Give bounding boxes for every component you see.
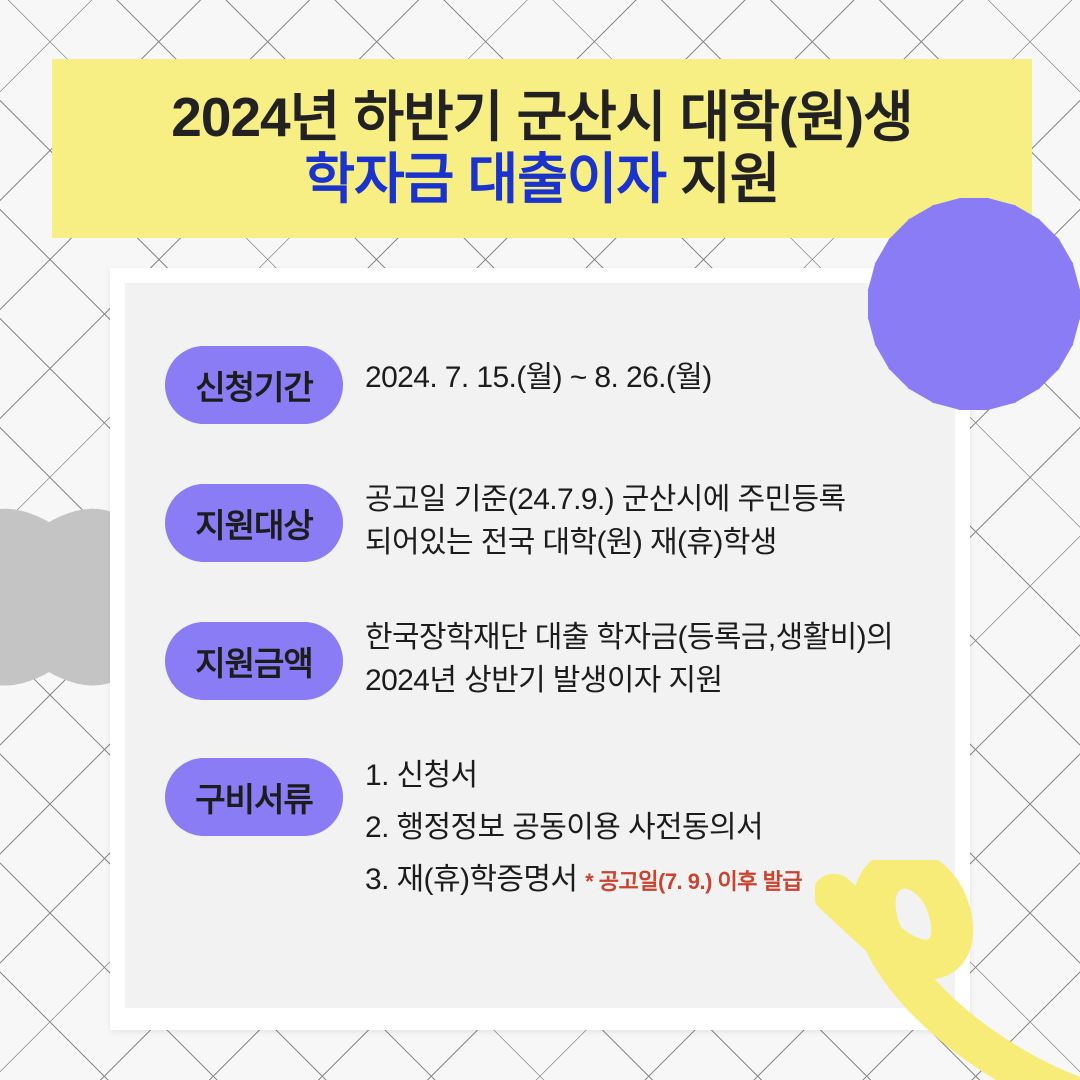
info-row-required-documents-text: 1. 신청서 2. 행정정보 공동이용 사전동의서 3. 재(휴)학증명서 * … [365, 744, 802, 910]
title-line-2-black: 지원 [666, 148, 779, 210]
text-line: 2024년 상반기 발생이자 지원 [365, 660, 893, 703]
title-line-1: 2024년 하반기 군산시 대학(원)생 [171, 87, 912, 149]
document-item-label: 3. 재(휴)학증명서 [365, 863, 577, 896]
document-item: 2. 행정정보 공동이용 사전동의서 [365, 807, 802, 850]
badge-label: 구비서류 [165, 758, 343, 836]
text-line: 공고일 기준(24.7.9.) 군산시에 주민등록 [365, 479, 846, 522]
info-rows: 신청기간 2024. 7. 15.(월) ~ 8. 26.(월) 지원대상 공고… [165, 346, 946, 910]
info-row-application-period-text: 2024. 7. 15.(월) ~ 8. 26.(월) [365, 346, 712, 400]
text-line: 2024. 7. 15.(월) ~ 8. 26.(월) [365, 357, 712, 400]
info-row-eligibility-text: 공고일 기준(24.7.9.) 군산시에 주민등록 되어있는 전국 대학(원) … [365, 468, 846, 564]
badge-label: 지원금액 [165, 622, 343, 700]
poster-canvas: 2024년 하반기 군산시 대학(원)생 학자금 대출이자 지원 [0, 0, 1080, 1080]
title-line-2: 학자금 대출이자 지원 [305, 149, 780, 211]
badge-eligibility: 지원대상 [165, 484, 343, 562]
title-band: 2024년 하반기 군산시 대학(원)생 학자금 대출이자 지원 [52, 59, 1032, 238]
info-row-required-documents: 구비서류 1. 신청서 2. 행정정보 공동이용 사전동의서 3. 재(휴)학증… [165, 744, 946, 910]
info-row-support-amount-text: 한국장학재단 대출 학자금(등록금,생활비)의 2024년 상반기 발생이자 지… [365, 606, 893, 702]
text-line: 되어있는 전국 대학(원) 재(휴)학생 [365, 522, 846, 565]
badge-required-documents: 구비서류 [165, 758, 343, 836]
issuance-note: * 공고일(7. 9.) 이후 발급 [585, 869, 802, 894]
badge-support-amount: 지원금액 [165, 622, 343, 700]
badge-label: 신청기간 [165, 346, 343, 424]
content-card: 신청기간 2024. 7. 15.(월) ~ 8. 26.(월) 지원대상 공고… [110, 268, 970, 1030]
badge-application-period: 신청기간 [165, 346, 343, 424]
info-row-application-period: 신청기간 2024. 7. 15.(월) ~ 8. 26.(월) [165, 346, 946, 424]
title-line-2-blue: 학자금 대출이자 [305, 148, 666, 210]
info-row-eligibility: 지원대상 공고일 기준(24.7.9.) 군산시에 주민등록 되어있는 전국 대… [165, 468, 946, 564]
text-line: 한국장학재단 대출 학자금(등록금,생활비)의 [365, 617, 893, 660]
badge-label: 지원대상 [165, 484, 343, 562]
document-item-with-note: 3. 재(휴)학증명서 * 공고일(7. 9.) 이후 발급 [365, 859, 802, 902]
info-row-support-amount: 지원금액 한국장학재단 대출 학자금(등록금,생활비)의 2024년 상반기 발… [165, 606, 946, 702]
document-item: 1. 신청서 [365, 755, 802, 798]
